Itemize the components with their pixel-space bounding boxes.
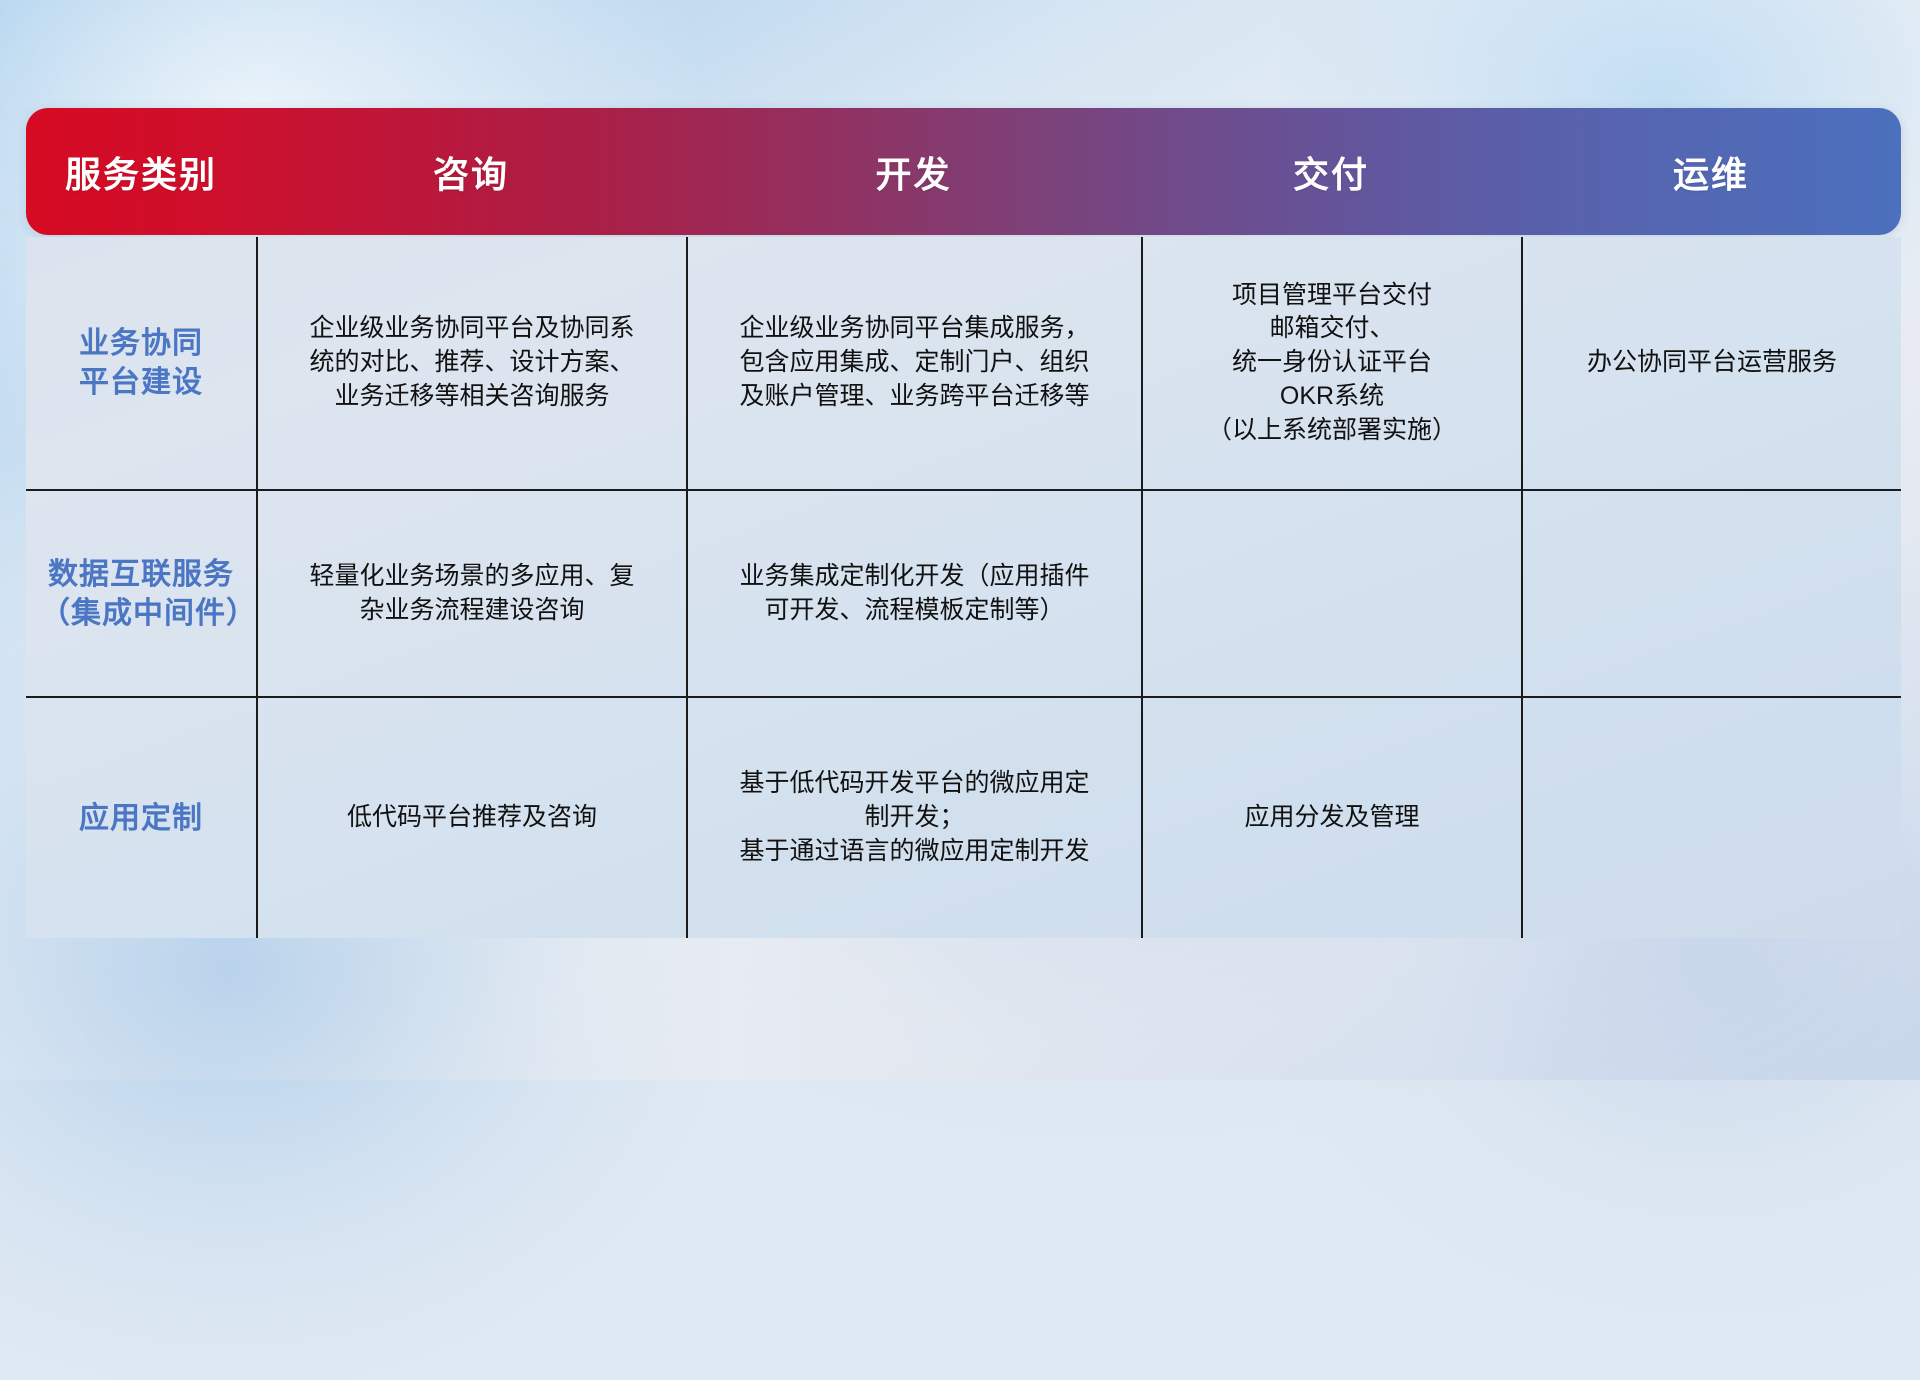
- cell-row1-consulting: 企业级业务协同平台及协同系 统的对比、推荐、设计方案、 业务迁移等相关咨询服务: [256, 237, 686, 489]
- cell-text: 企业级业务协同平台及协同系 统的对比、推荐、设计方案、 业务迁移等相关咨询服务: [309, 312, 634, 413]
- table-row: 应用定制 低代码平台推荐及咨询 基于低代码开发平台的微应用定 制开发； 基于通过…: [26, 696, 1901, 938]
- column-header-delivery: 交付: [1141, 108, 1521, 235]
- column-header-operations: 运维: [1521, 108, 1901, 235]
- cell-row2-operations: [1521, 491, 1901, 696]
- column-header-operations-label: 运维: [1673, 146, 1749, 198]
- table-row: 业务协同 平台建设 企业级业务协同平台及协同系 统的对比、推荐、设计方案、 业务…: [26, 237, 1901, 489]
- column-header-category-label: 服务类别: [65, 146, 217, 198]
- cell-row3-development: 基于低代码开发平台的微应用定 制开发； 基于通过语言的微应用定制开发: [686, 698, 1141, 938]
- cell-row3-consulting: 低代码平台推荐及咨询: [256, 698, 686, 938]
- cell-text: 项目管理平台交付 邮箱交付、 统一身份认证平台 OKR系统 （以上系统部署实施）: [1207, 279, 1457, 448]
- cell-text: 轻量化业务场景的多应用、复 杂业务流程建设咨询: [309, 560, 634, 628]
- row-label-data-interconnect-service: 数据互联服务 （集成中间件）: [26, 491, 256, 696]
- cell-text: 基于低代码开发平台的微应用定 制开发； 基于通过语言的微应用定制开发: [739, 767, 1089, 868]
- table-body: 业务协同 平台建设 企业级业务协同平台及协同系 统的对比、推荐、设计方案、 业务…: [26, 237, 1901, 938]
- cell-row3-operations: [1521, 698, 1901, 938]
- table-row: 数据互联服务 （集成中间件） 轻量化业务场景的多应用、复 杂业务流程建设咨询 业…: [26, 489, 1901, 696]
- cell-row2-delivery: [1141, 491, 1521, 696]
- cell-row2-consulting: 轻量化业务场景的多应用、复 杂业务流程建设咨询: [256, 491, 686, 696]
- cell-text: 企业级业务协同平台集成服务， 包含应用集成、定制门户、组织 及账户管理、业务跨平…: [739, 312, 1089, 413]
- cell-row1-delivery: 项目管理平台交付 邮箱交付、 统一身份认证平台 OKR系统 （以上系统部署实施）: [1141, 237, 1521, 489]
- cell-row3-delivery: 应用分发及管理: [1141, 698, 1521, 938]
- row-label-application-customization: 应用定制: [26, 698, 256, 938]
- cell-text: 业务集成定制化开发（应用插件 可开发、流程模板定制等）: [739, 560, 1089, 628]
- cell-row1-development: 企业级业务协同平台集成服务， 包含应用集成、定制门户、组织 及账户管理、业务跨平…: [686, 237, 1141, 489]
- row-label-text: 应用定制: [79, 799, 203, 838]
- column-header-category: 服务类别: [26, 108, 256, 235]
- row-label-text: 数据互联服务 （集成中间件）: [40, 555, 242, 633]
- column-header-consulting: 咨询: [256, 108, 686, 235]
- cell-row1-operations: 办公协同平台运营服务: [1521, 237, 1901, 489]
- column-header-delivery-label: 交付: [1293, 146, 1369, 198]
- row-label-business-collaboration: 业务协同 平台建设: [26, 237, 256, 489]
- service-category-table: 服务类别 咨询 开发 交付 运维 业务协同 平台建设 企业级业务协同平台及协同系…: [26, 108, 1901, 960]
- column-header-development-label: 开发: [875, 146, 951, 198]
- cell-text: 办公协同平台运营服务: [1587, 346, 1837, 380]
- cell-text: 低代码平台推荐及咨询: [347, 801, 597, 835]
- cell-text: 应用分发及管理: [1244, 801, 1419, 835]
- cell-row2-development: 业务集成定制化开发（应用插件 可开发、流程模板定制等）: [686, 491, 1141, 696]
- row-label-text: 业务协同 平台建设: [79, 324, 203, 402]
- column-header-consulting-label: 咨询: [433, 146, 509, 198]
- table-header-row: 服务类别 咨询 开发 交付 运维: [26, 108, 1901, 235]
- column-header-development: 开发: [686, 108, 1141, 235]
